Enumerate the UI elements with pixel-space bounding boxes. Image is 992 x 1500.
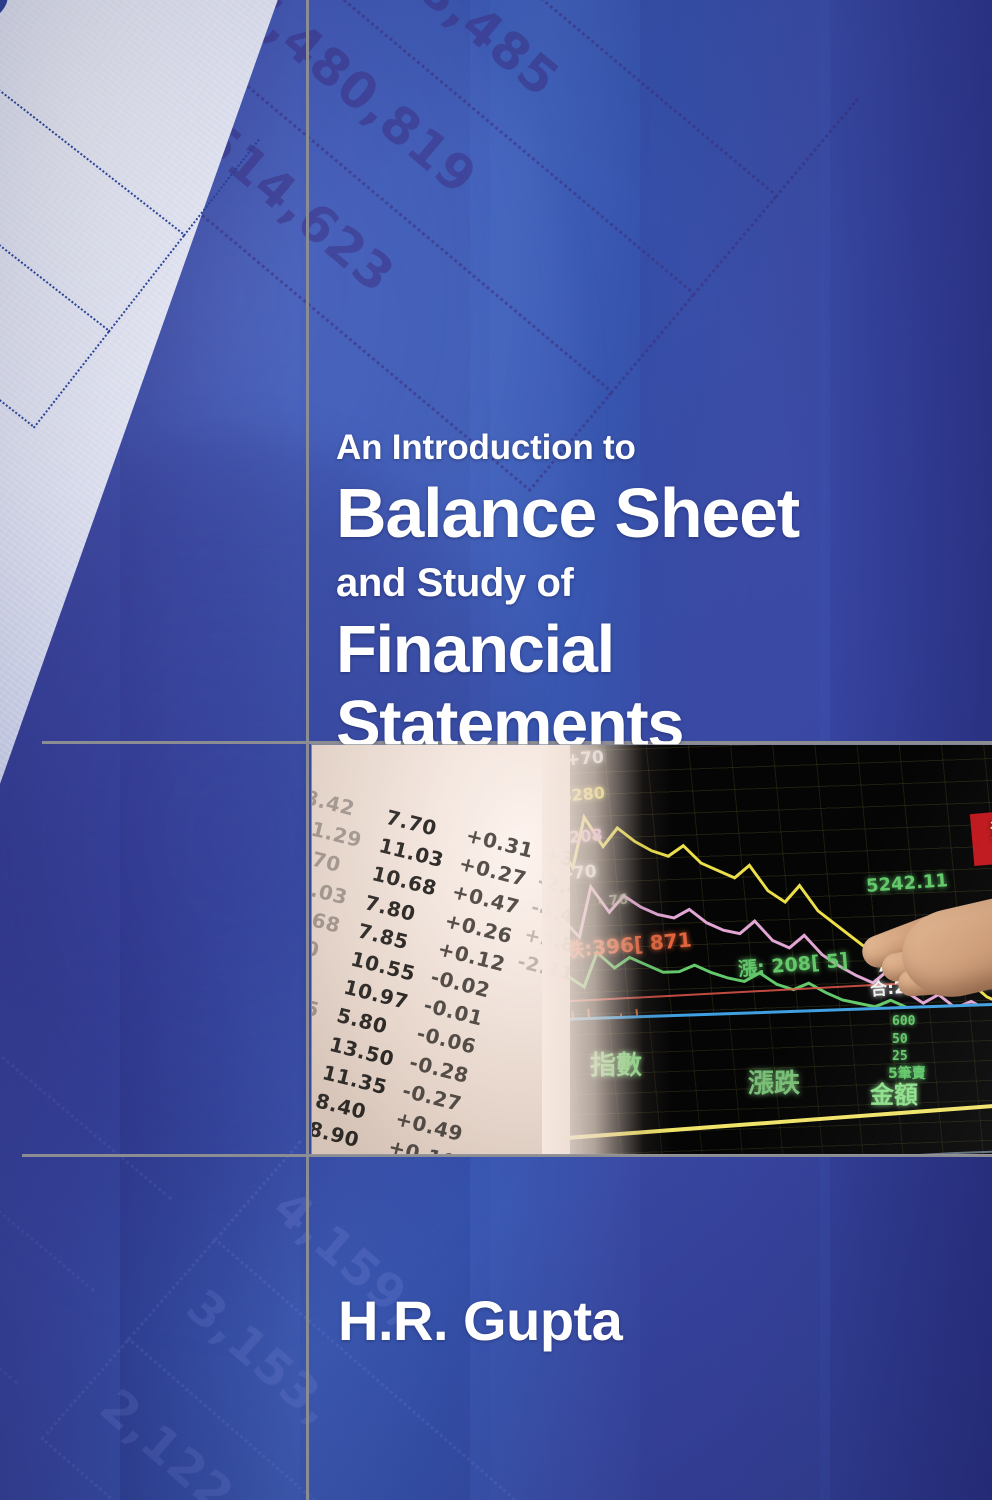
inset-photograph: 8.42 11.29 7.70 11.03 10.68 7.80 7.85 10… [312,745,992,1154]
author-name: H.R. Gupta [338,1288,622,1353]
title-block: An Introduction to Balance Sheet and Stu… [336,430,972,762]
lower-horizontal-rule-line [22,1154,992,1157]
vertical-rule-line [306,0,309,1500]
book-cover: 1,908, 5,649, 655,085, 1,2 4,159, 3,153,… [0,0,992,1500]
title-main-line1: Balance Sheet [336,474,972,552]
board-legend-amount: 金額 [870,1075,918,1110]
newspaper-blur-fade [542,745,672,1154]
title-middle: and Study of [336,562,972,604]
board-sign-text: 沛富 [973,812,992,845]
title-prefix: An Introduction to [336,430,972,467]
board-legend-change: 漲跌 [748,1063,800,1100]
title-main-line2: Financial Statements [336,612,972,762]
